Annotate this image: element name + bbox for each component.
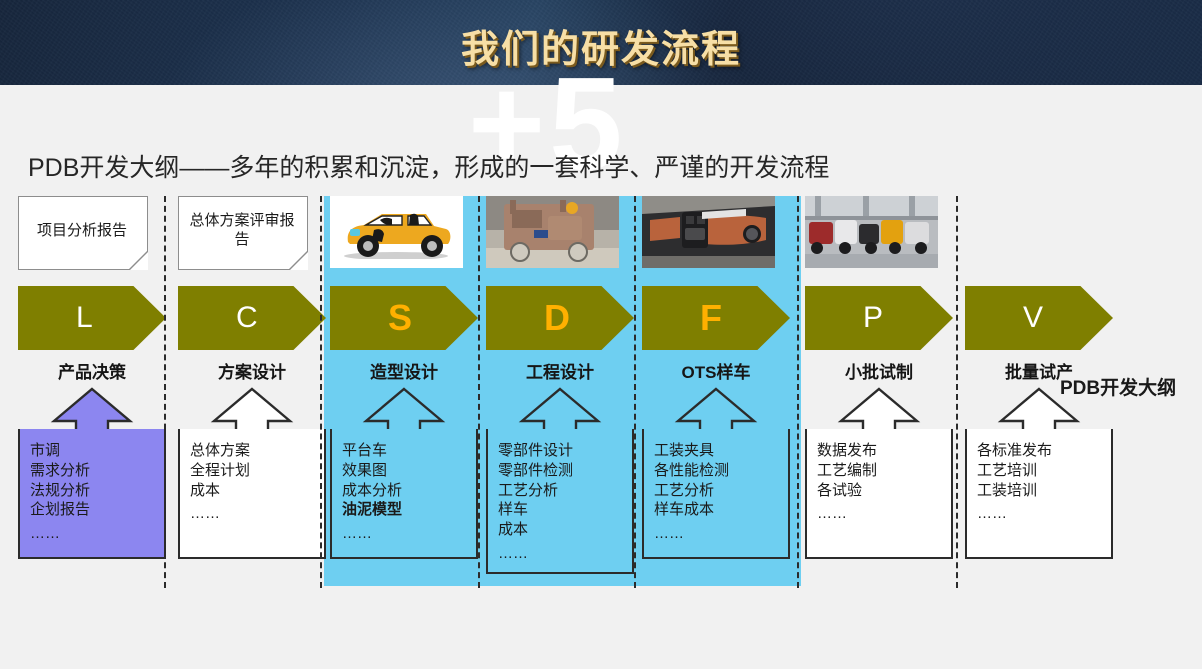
slide-root: 我们的研发流程 +5 PDB开发大纲——多年的积累和沉淀，形成的一套科学、严谨的… <box>0 0 1202 669</box>
stage-column-f[interactable]: FOTS样车 工装夹具各性能检测工艺分析样车成本…… <box>642 196 794 559</box>
stage-column-l[interactable]: 项目分析报告L产品决策 市调需求分析法规分析企划报告…… <box>18 196 170 559</box>
deliverable-item: 零部件检测 <box>498 461 626 481</box>
stage-photo-car-dashboard-interior <box>642 196 775 268</box>
stage-media-v <box>965 196 1117 276</box>
deliverable-item: 工艺编制 <box>817 461 945 481</box>
document-card-text: 总体方案评审报告 <box>187 212 297 250</box>
stage-photo-yellow-concept-car <box>330 196 463 268</box>
stage-column-c[interactable]: 总体方案评审报告C方案设计 总体方案全程计划成本…… <box>178 196 330 559</box>
deliverable-item: 法规分析 <box>30 481 158 501</box>
deliverable-item: 成本 <box>190 481 318 501</box>
stage-media-l: 项目分析报告 <box>18 196 170 276</box>
document-card-text: 项目分析报告 <box>37 222 127 241</box>
stage-callout-l: 市调需求分析法规分析企划报告…… <box>18 387 166 559</box>
stage-label-f: OTS样车 <box>642 358 790 383</box>
deliverable-item: 各性能检测 <box>654 461 782 481</box>
stage-label-l: 产品决策 <box>18 358 166 383</box>
stage-divider-5 <box>956 196 958 588</box>
up-arrow-icon <box>330 387 478 431</box>
deliverables-box-f: 工装夹具各性能检测工艺分析样车成本…… <box>642 429 790 559</box>
stage-media-d <box>486 196 638 276</box>
stage-column-p[interactable]: P小批试制 数据发布工艺编制各试验…… <box>805 196 957 559</box>
stage-divider-0 <box>164 196 166 588</box>
stage-callout-f: 工装夹具各性能检测工艺分析样车成本…… <box>642 387 790 559</box>
header-banner: 我们的研发流程 <box>0 0 1202 85</box>
deliverable-ellipsis: …… <box>654 524 782 544</box>
stage-chevron-s[interactable]: S <box>330 286 478 350</box>
up-arrow-icon <box>18 387 166 431</box>
stage-chevron-v[interactable]: V <box>965 286 1113 350</box>
stage-letter: L <box>76 301 93 335</box>
subtitle-text: PDB开发大纲——多年的积累和沉淀，形成的一套科学、严谨的开发流程 <box>28 148 829 184</box>
stage-divider-4 <box>797 196 799 588</box>
page-fold-icon <box>290 252 308 270</box>
stage-callout-p: 数据发布工艺编制各试验…… <box>805 387 953 559</box>
deliverable-item: 总体方案 <box>190 441 318 461</box>
stage-divider-3 <box>634 196 636 588</box>
stage-chevron-f[interactable]: F <box>642 286 790 350</box>
stage-letter: S <box>388 297 412 339</box>
deliverables-box-l: 市调需求分析法规分析企划报告…… <box>18 429 166 559</box>
stage-label-p: 小批试制 <box>805 358 953 383</box>
stage-label-d: 工程设计 <box>486 358 634 383</box>
deliverable-item: 工艺分析 <box>498 481 626 501</box>
deliverable-item: 样车成本 <box>654 500 782 520</box>
stage-column-d[interactable]: D工程设计 零部件设计零部件检测工艺分析样车成本…… <box>486 196 638 574</box>
deliverable-item: 平台车 <box>342 441 470 461</box>
stage-callout-s: 平台车效果图成本分析油泥模型…… <box>330 387 478 559</box>
stage-media-p <box>805 196 957 276</box>
stage-label-c: 方案设计 <box>178 358 326 383</box>
up-arrow-icon <box>805 387 953 431</box>
stage-callout-v: 各标准发布工艺培训工装培训…… <box>965 387 1113 559</box>
deliverable-item: 样车 <box>498 500 626 520</box>
stage-media-s <box>330 196 482 276</box>
deliverable-item: 各试验 <box>817 481 945 501</box>
deliverable-item: 成本 <box>498 520 626 540</box>
stage-letter: V <box>1023 301 1043 335</box>
stage-photo-clay-model-vehicle <box>486 196 619 268</box>
stage-letter: C <box>236 301 258 335</box>
stage-divider-1 <box>320 196 322 588</box>
deliverable-item: 效果图 <box>342 461 470 481</box>
stage-label-s: 造型设计 <box>330 358 478 383</box>
deliverable-ellipsis: …… <box>342 524 470 544</box>
stage-chevron-c[interactable]: C <box>178 286 326 350</box>
deliverable-item: 成本分析 <box>342 481 470 501</box>
stage-letter: P <box>863 301 883 335</box>
deliverable-ellipsis: …… <box>30 524 158 544</box>
page-fold-icon <box>130 252 148 270</box>
stage-callout-d: 零部件设计零部件检测工艺分析样车成本…… <box>486 387 634 574</box>
deliverables-box-d: 零部件设计零部件检测工艺分析样车成本…… <box>486 429 634 574</box>
page-title: 我们的研发流程 <box>0 18 1202 73</box>
deliverable-ellipsis: …… <box>498 544 626 564</box>
deliverable-item: 零部件设计 <box>498 441 626 461</box>
up-arrow-icon <box>642 387 790 431</box>
deliverables-box-p: 数据发布工艺编制各试验…… <box>805 429 953 559</box>
deliverables-box-v: 各标准发布工艺培训工装培训…… <box>965 429 1113 559</box>
deliverable-item: 各标准发布 <box>977 441 1105 461</box>
document-card: 项目分析报告 <box>18 196 148 270</box>
deliverable-ellipsis: …… <box>817 504 945 524</box>
deliverable-ellipsis: …… <box>977 504 1105 524</box>
deliverable-item: 企划报告 <box>30 500 158 520</box>
stage-letter: F <box>700 297 722 339</box>
deliverable-item: 工装夹具 <box>654 441 782 461</box>
stage-column-s[interactable]: S造型设计 平台车效果图成本分析油泥模型…… <box>330 196 482 559</box>
stage-letter: D <box>544 297 570 339</box>
deliverable-item: 工艺分析 <box>654 481 782 501</box>
deliverable-item: 油泥模型 <box>342 500 470 520</box>
stage-divider-2 <box>478 196 480 588</box>
deliverable-item: 数据发布 <box>817 441 945 461</box>
stage-callout-c: 总体方案全程计划成本…… <box>178 387 326 559</box>
deliverable-item: 全程计划 <box>190 461 318 481</box>
deliverable-item: 需求分析 <box>30 461 158 481</box>
stage-photo-vehicle-assembly-line <box>805 196 938 268</box>
deliverable-ellipsis: …… <box>190 504 318 524</box>
deliverables-box-s: 平台车效果图成本分析油泥模型…… <box>330 429 478 559</box>
up-arrow-icon <box>178 387 326 431</box>
stage-chevron-p[interactable]: P <box>805 286 953 350</box>
pdb-outline-overlap-label: PDB开发大纲 <box>1060 373 1176 400</box>
stage-chevron-l[interactable]: L <box>18 286 166 350</box>
stage-media-f <box>642 196 794 276</box>
deliverables-box-c: 总体方案全程计划成本…… <box>178 429 326 559</box>
stage-chevron-d[interactable]: D <box>486 286 634 350</box>
up-arrow-icon <box>486 387 634 431</box>
deliverable-item: 工装培训 <box>977 481 1105 501</box>
stage-media-c: 总体方案评审报告 <box>178 196 330 276</box>
deliverable-item: 工艺培训 <box>977 461 1105 481</box>
deliverable-item: 市调 <box>30 441 158 461</box>
document-card: 总体方案评审报告 <box>178 196 308 270</box>
